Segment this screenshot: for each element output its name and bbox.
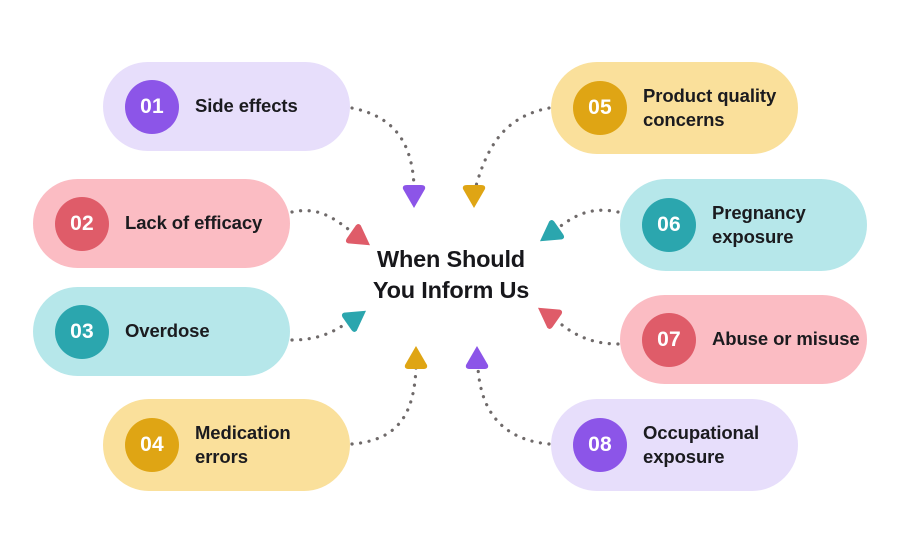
connector-07-path <box>556 320 618 344</box>
card-07[interactable]: 07Abuse or misuse <box>620 295 867 384</box>
card-label-01: Side effects <box>195 94 298 118</box>
connector-02-path <box>292 211 352 232</box>
badge-02: 02 <box>55 197 109 251</box>
connector-04-arrow-icon <box>405 346 427 369</box>
connector-08-arrow-icon <box>466 346 488 369</box>
card-label-08: Occupational exposure <box>643 421 759 470</box>
badge-01: 01 <box>125 80 179 134</box>
card-label-05: Product quality concerns <box>643 84 776 133</box>
connector-05-path <box>476 108 549 186</box>
card-01[interactable]: 01Side effects <box>103 62 350 151</box>
card-label-04: Medication errors <box>195 421 291 470</box>
badge-03: 03 <box>55 305 109 359</box>
card-label-07: Abuse or misuse <box>712 327 860 351</box>
connector-08-path <box>478 368 549 444</box>
card-label-06: Pregnancy exposure <box>712 201 806 250</box>
card-label-03: Overdose <box>125 319 210 343</box>
card-08[interactable]: 08Occupational exposure <box>551 399 798 491</box>
badge-08: 08 <box>573 418 627 472</box>
card-03[interactable]: 03Overdose <box>33 287 290 376</box>
badge-04: 04 <box>125 418 179 472</box>
card-label-02: Lack of efficacy <box>125 211 262 235</box>
card-04[interactable]: 04Medication errors <box>103 399 350 491</box>
connector-03-path <box>292 322 348 340</box>
card-06[interactable]: 06Pregnancy exposure <box>620 179 867 271</box>
connector-04-path <box>352 368 416 444</box>
card-05[interactable]: 05Product quality concerns <box>551 62 798 154</box>
connector-06-path <box>558 210 618 228</box>
connector-01-path <box>352 108 414 186</box>
badge-06: 06 <box>642 198 696 252</box>
connector-01-arrow-icon <box>403 185 425 208</box>
badge-05: 05 <box>573 81 627 135</box>
infographic-canvas: 01Side effects02Lack of efficacy03Overdo… <box>0 0 900 557</box>
page-title: When Should You Inform Us <box>340 244 562 307</box>
card-02[interactable]: 02Lack of efficacy <box>33 179 290 268</box>
badge-07: 07 <box>642 313 696 367</box>
connector-05-arrow-icon <box>463 185 485 208</box>
